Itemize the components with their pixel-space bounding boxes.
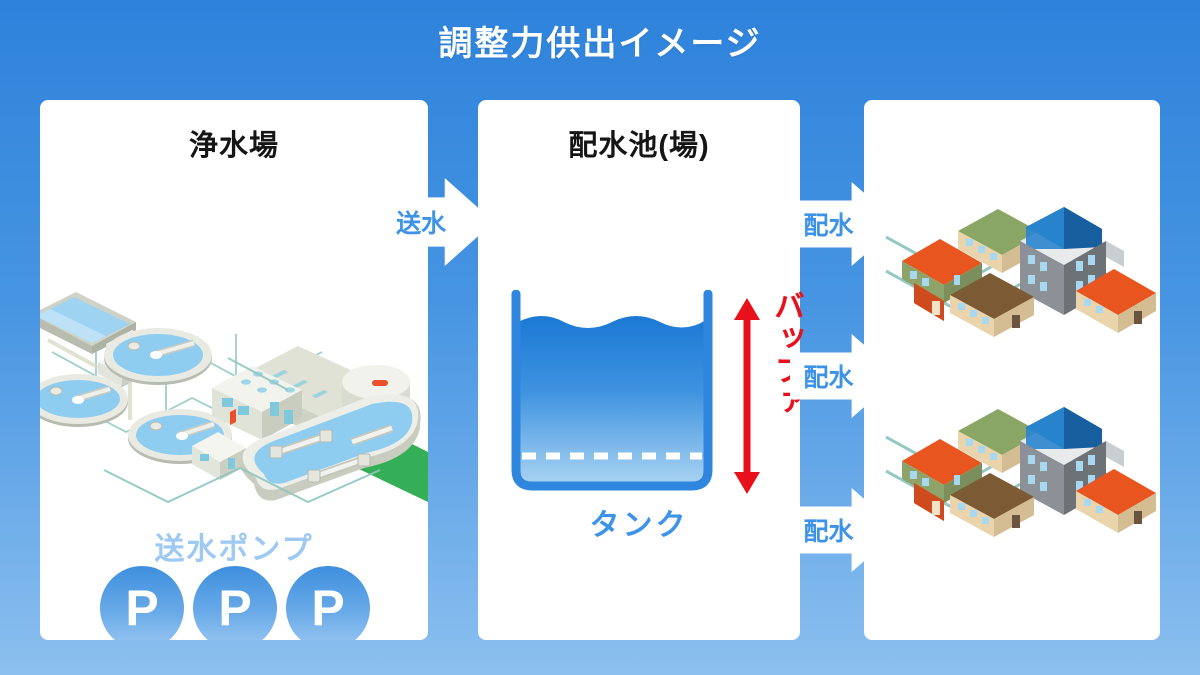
diagram-canvas: 調整力供出イメージ 浄水場 [0, 0, 1200, 675]
tank-label: タンク [478, 500, 800, 544]
panel-title-plant: 浄水場 [40, 122, 428, 164]
arrow-label-haisui-2: 配水 [794, 358, 862, 394]
pump-2[interactable]: P [193, 566, 277, 640]
arrow-label-haisui-3: 配水 [794, 512, 862, 548]
page-title: 調整力供出イメージ [0, 16, 1200, 65]
pump-3[interactable]: P [286, 566, 370, 640]
customer-houses-cluster-1 [880, 175, 1160, 340]
tank-graphic [504, 290, 744, 505]
panel-title-reservoir: 配水池(場) [478, 122, 800, 164]
arrow-label-soisui: 送水 [386, 204, 455, 240]
tank-svg [504, 290, 744, 505]
panel-water-purification-plant: 浄水場 [40, 100, 428, 640]
pump-section-label: 送水ポンプ [40, 524, 428, 568]
arrow-label-haisui-1: 配水 [794, 206, 862, 242]
pump-1[interactable]: P [100, 566, 184, 640]
buffer-double-arrow-icon [730, 296, 764, 496]
water-plant-illustration [40, 270, 428, 540]
customer-houses-cluster-2 [880, 375, 1160, 540]
pump-row: P P P [100, 566, 370, 640]
